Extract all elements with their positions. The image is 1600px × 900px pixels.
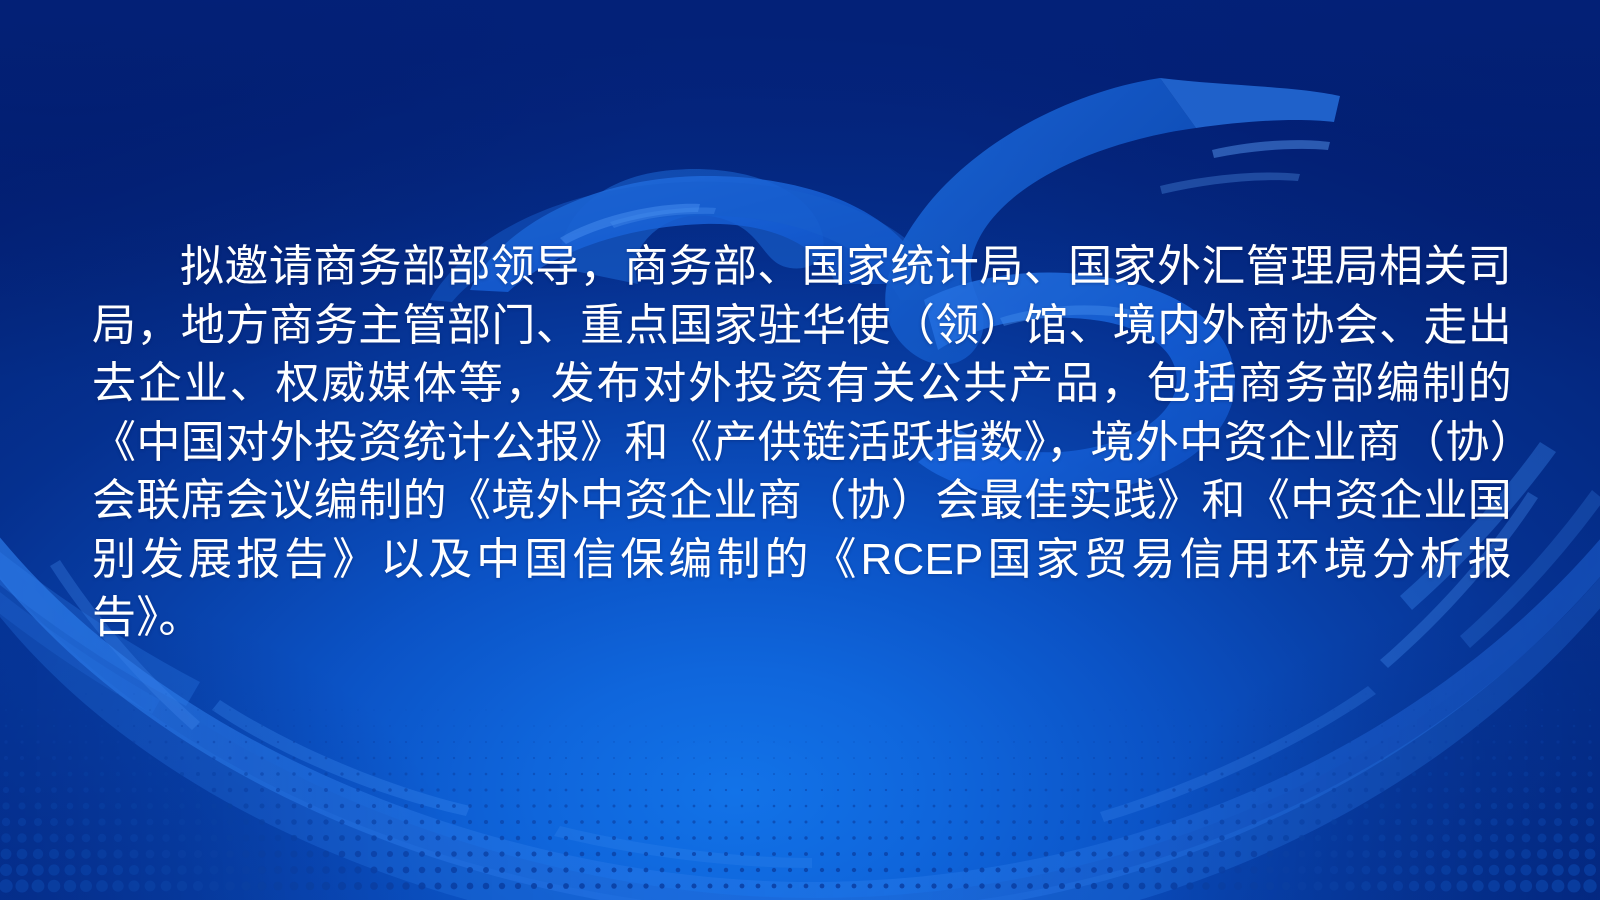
presentation-slide: 拟邀请商务部部领导，商务部、国家统计局、国家外汇管理局相关司局，地方商务主管部门… bbox=[0, 0, 1600, 900]
body-text-block: 拟邀请商务部部领导，商务部、国家统计局、国家外汇管理局相关司局，地方商务主管部门… bbox=[92, 238, 1512, 648]
body-paragraph: 拟邀请商务部部领导，商务部、国家统计局、国家外汇管理局相关司局，地方商务主管部门… bbox=[92, 238, 1512, 648]
